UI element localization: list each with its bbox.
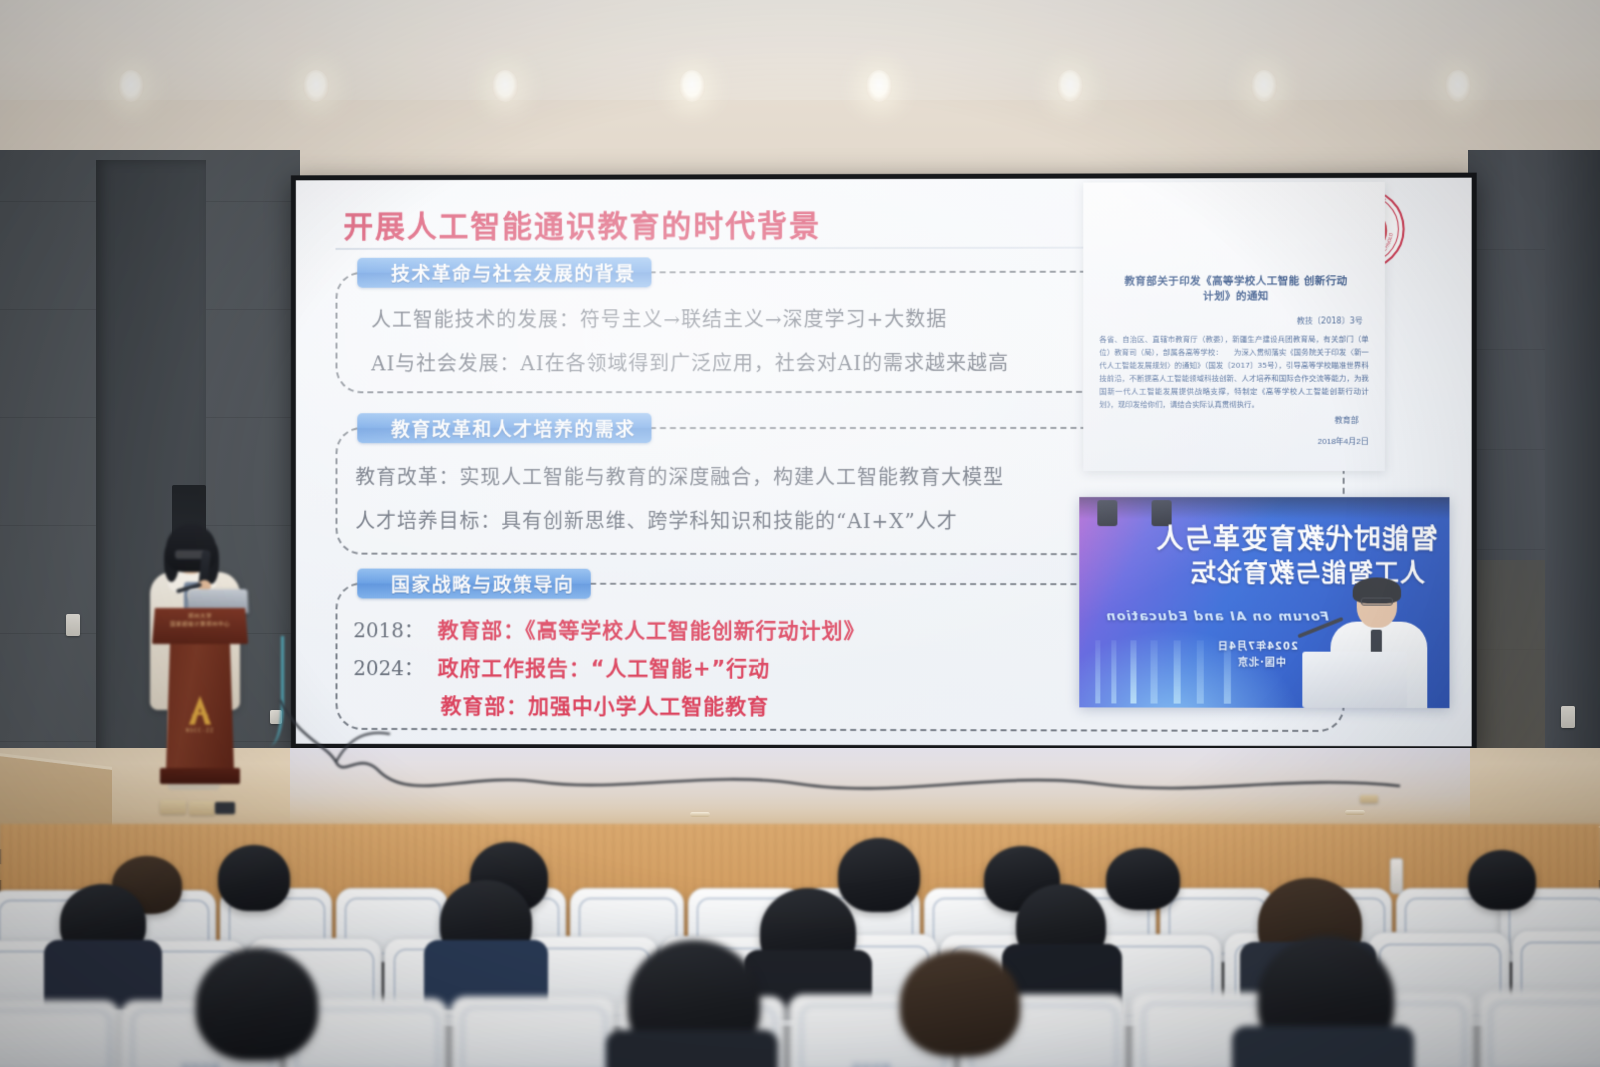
section-line: 人才培养目标：具有创新思维、跨学科知识和技能的“AI+X”人才	[355, 505, 958, 534]
lectern-org-line2: 国家超级计算郑州中心	[170, 622, 230, 628]
ceiling-downlight	[866, 70, 892, 102]
lectern-org-text: 郑州大学 国家超级计算郑州中心	[162, 613, 238, 629]
stage-speaker-box-icon	[1097, 500, 1117, 526]
lectern-logo-text: NSCC-ZZ	[168, 728, 232, 734]
ceiling-upper-band	[0, 0, 1600, 108]
ceiling-downlight	[1057, 70, 1083, 102]
wall-corner	[1545, 150, 1600, 850]
lectern: 郑州大学 国家超级计算郑州中心 NSCC-ZZ	[152, 608, 248, 786]
presentation-slide: 开展人工智能通识教育的时代背景 中	[296, 178, 1472, 747]
forum-banner-date: 2024年7月4日	[1217, 637, 1298, 652]
section-line: AI与社会发展：AI在各领域得到广泛应用，社会对AI的需求越来越高	[371, 347, 1009, 376]
wall-outlet	[66, 614, 80, 636]
ceiling-downlight	[118, 70, 144, 102]
ceiling-downlight	[1445, 70, 1471, 102]
ceiling-downlight	[1251, 70, 1277, 102]
policy-row: 2024： 政府工作报告：“人工智能+”行动	[353, 652, 770, 683]
audience-torso	[606, 1030, 778, 1067]
floor-power-strip	[215, 802, 235, 814]
audience-torso	[1232, 1026, 1414, 1067]
nscc-zz-logo-icon	[182, 694, 218, 728]
document-date: 2018年4月2日	[1318, 436, 1369, 447]
section-line: 人工智能技术的发展：符号主义→联结主义→深度学习+大数据	[371, 303, 947, 333]
floor-equipment	[160, 800, 186, 814]
seat-label: 国家超算	[789, 1061, 955, 1067]
audience-head	[218, 845, 290, 911]
document-body: 各省、自治区、直辖市教育厅（教委），新疆生产建设兵团教育局，有关部门（单位）教育…	[1099, 332, 1368, 410]
audience-head	[1468, 850, 1536, 910]
wall-outlet	[1561, 706, 1575, 728]
forum-banner-english: Forum on AI and Education	[1105, 609, 1328, 624]
water-bottle	[1390, 858, 1403, 894]
policy-text: 政府工作报告：“人工智能+”行动	[438, 652, 771, 682]
policy-text: 教育部：《高等学校人工智能创新行动计划》	[438, 614, 866, 645]
slide-title: 开展人工智能通识教育的时代背景	[343, 201, 821, 246]
audience-head	[196, 948, 318, 1060]
ceiling-downlight	[679, 70, 705, 102]
floor-cable-run	[240, 700, 1420, 820]
document-number: 教技〔2018〕3号	[1297, 315, 1363, 326]
forum-banner-line1: 智能时代教育变革与人	[1156, 517, 1438, 556]
lecture-hall-scene: 开展人工智能通识教育的时代背景 中	[0, 0, 1600, 1067]
speaker-glasses-icon	[1361, 598, 1393, 606]
audience-head	[1106, 848, 1180, 910]
seat	[1478, 990, 1600, 1067]
audience-head	[900, 950, 1020, 1056]
ceiling-downlight	[492, 70, 518, 102]
lectern-org-line1: 郑州大学	[188, 614, 212, 620]
floor-equipment	[1360, 795, 1378, 803]
forum-speaker-figure	[1320, 577, 1439, 708]
forum-banner-place: 中国·北京	[1237, 654, 1286, 669]
section-header-national-strategy: 国家战略与政策导向	[357, 569, 590, 599]
seat	[0, 1000, 120, 1067]
audience-head	[838, 838, 920, 912]
floor-equipment	[189, 801, 215, 815]
ceiling-downlight	[303, 70, 329, 102]
projection-screen[interactable]: 开展人工智能通识教育的时代背景 中	[291, 173, 1477, 754]
document-title: 教育部关于印发《高等学校人工智能 创新行动计划》的通知	[1121, 274, 1350, 304]
policy-year: 2018：	[353, 614, 423, 643]
seat-label: 国家超算	[121, 1061, 281, 1067]
section-header-technology: 技术革命与社会发展的背景	[357, 257, 651, 287]
lectern-base	[160, 768, 240, 784]
document-signature: 教育部	[1335, 415, 1359, 426]
section-header-education-reform: 教育改革和人才培养的需求	[357, 413, 651, 443]
photo-truss	[1079, 497, 1449, 519]
policy-row: 2018： 教育部：《高等学校人工智能创新行动计划》	[353, 614, 865, 645]
seat	[450, 996, 616, 1067]
section-line: 教育改革：实现人工智能与教育的深度融合，构建人工智能教育大模型	[355, 461, 1004, 490]
ai-education-forum-photo: 智能时代教育变革与人 人工智能与教育论坛 Forum on AI and Edu…	[1079, 497, 1449, 708]
moe-notice-document-image: 教育部关于印发《高等学校人工智能 创新行动计划》的通知 教技〔2018〕3号 各…	[1083, 182, 1385, 471]
policy-year: 2024：	[353, 652, 423, 681]
